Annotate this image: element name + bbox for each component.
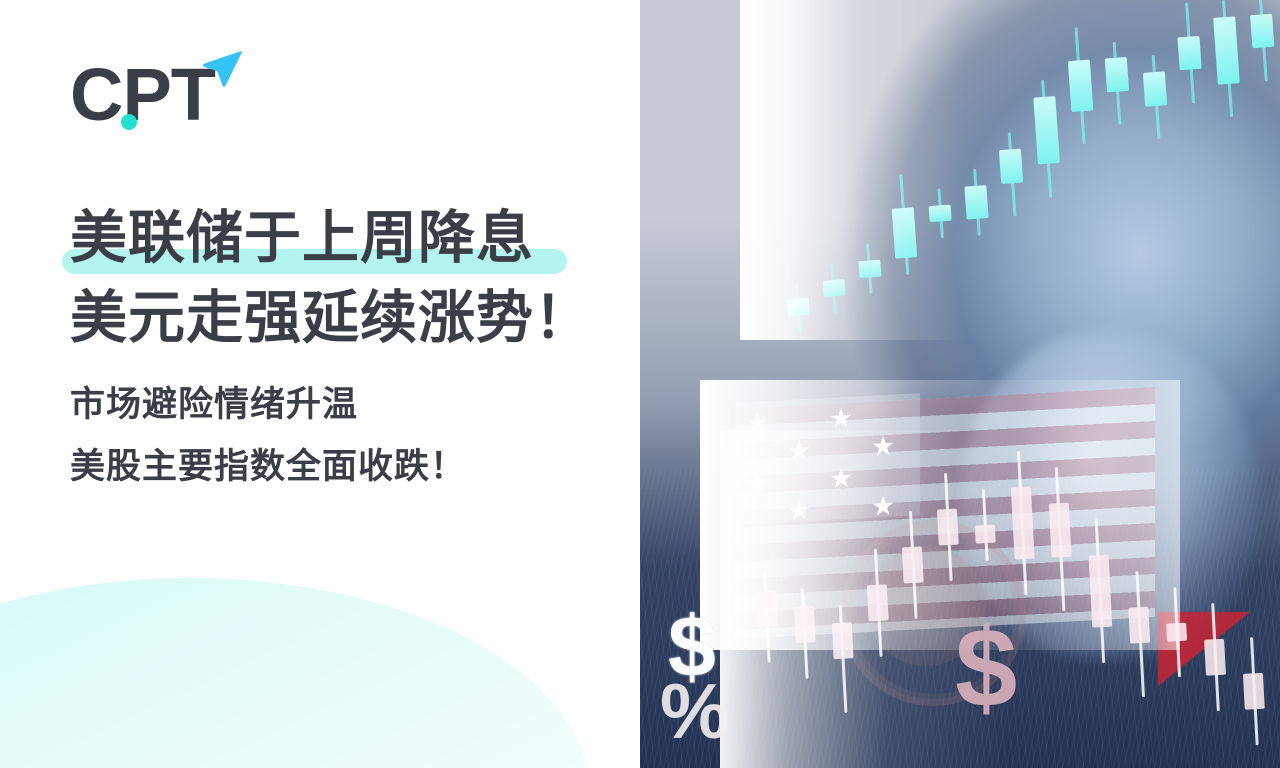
candlestick (1202, 603, 1228, 712)
candlestick-body (1204, 639, 1226, 676)
us-flag-stars: ★★★★★★★★ (735, 393, 925, 528)
candlestick (1142, 55, 1170, 140)
candlestick-wick (795, 282, 802, 332)
candlestick-body (1048, 503, 1071, 558)
candlestick-body (786, 298, 809, 316)
red-triangle-accent (1158, 612, 1250, 686)
candlestick-body (794, 606, 816, 643)
candlestick-body (858, 260, 881, 278)
candlestick-wick (839, 605, 848, 713)
candlestick-wick (1113, 41, 1122, 125)
candlestick-body (1068, 60, 1093, 112)
candlestick (1126, 571, 1153, 698)
candlestick-wick (1008, 133, 1017, 217)
us-flag-canton (735, 393, 920, 525)
candlestick-wick (944, 473, 953, 581)
candlestick (1212, 0, 1242, 118)
candlestick (1086, 519, 1114, 664)
candlestick (793, 588, 818, 679)
headline-block: 美联储于上周降息 美元走强延续涨势！ 市场避险情绪升温 美股主要指数全面收跌！ (70, 196, 690, 498)
candlestick (785, 281, 810, 333)
logo-wordmark: CPT (70, 52, 215, 138)
candlestick-wick (873, 549, 882, 657)
banknote-engraving-texture-secondary (640, 558, 1280, 768)
candlestick (973, 489, 997, 562)
candlestick-body (832, 622, 854, 659)
falling-candlestick-chart (740, 427, 1277, 768)
flag-star-icon: ★ (871, 493, 895, 521)
candlestick-wick (1075, 27, 1086, 144)
candlestick-body (1250, 13, 1274, 48)
candlestick (900, 510, 926, 619)
candlestick-body (1010, 487, 1034, 560)
candlestick (1241, 637, 1267, 746)
candlestick-body (1105, 57, 1129, 92)
candlestick-body (1213, 16, 1240, 84)
candlestick-wick (801, 589, 809, 679)
candlestick (1164, 587, 1189, 678)
candlestick-body (755, 590, 777, 627)
candlestick-wick (1250, 637, 1259, 745)
candlestick-body (1166, 623, 1187, 642)
large-dollar-symbol: $ (955, 612, 1015, 724)
headline-line-2-text: 美元走强延续涨势！ (70, 286, 592, 350)
franklin-portrait-shadow (860, 390, 980, 580)
candlestick-body (1033, 96, 1060, 164)
flag-star-icon: ★ (745, 469, 769, 497)
candlestick-wick (1135, 571, 1145, 697)
candlestick (1175, 2, 1204, 104)
us-flag-stripes (735, 387, 1155, 639)
franklin-portrait (960, 330, 1260, 660)
candlestick-body (892, 207, 917, 259)
cpt-logo[interactable]: CPT (70, 52, 240, 138)
candlestick-wick (866, 244, 873, 294)
candlestick (935, 473, 961, 582)
falling-chart-fade-mask (720, 430, 1280, 768)
candlestick-wick (982, 489, 989, 561)
candlestick-body (1143, 71, 1167, 106)
rising-candlestick-chart (759, 0, 1280, 348)
headline-line-1-text: 美联储于上周降息 (70, 206, 534, 270)
mint-decorative-blob (0, 578, 590, 768)
subhead-line-2: 美股主要指数全面收跌！ (70, 436, 690, 498)
headline-line-1: 美联储于上周降息 (70, 196, 690, 280)
paper-plane-icon (198, 50, 242, 88)
banknote-engraving-texture (640, 468, 1280, 768)
federal-reserve-seal (840, 520, 1026, 706)
headline-line-2: 美元走强延续涨势！ (70, 276, 690, 360)
candlestick-wick (1041, 80, 1052, 197)
flag-star-icon: ★ (787, 497, 811, 525)
federal-reserve-seal-inner (866, 546, 986, 666)
candlestick-body (999, 149, 1023, 184)
candlestick-wick (1211, 603, 1220, 711)
candlestick (1009, 451, 1037, 596)
dollar-watermark: $ (668, 604, 716, 690)
candlestick-wick (937, 188, 944, 238)
candlestick-wick (1017, 451, 1028, 595)
flag-star-icon: ★ (871, 433, 895, 461)
flag-star-icon: ★ (829, 405, 853, 433)
candlestick (857, 243, 882, 295)
rising-chart-fade-mask (740, 0, 1280, 340)
candlestick-wick (763, 573, 771, 663)
candlestick (889, 173, 918, 275)
candlestick-body (867, 584, 889, 621)
candlestick (865, 548, 891, 657)
candlestick-wick (1173, 587, 1181, 677)
candlestick-wick (1095, 519, 1106, 663)
candlestick-body (965, 185, 989, 220)
candlestick (998, 132, 1026, 217)
candlestick-wick (909, 511, 918, 619)
candlestick (1249, 0, 1277, 82)
percent-watermark: % (660, 672, 729, 750)
candlestick-wick (973, 169, 981, 236)
candlestick-wick (1259, 0, 1268, 81)
candlestick-body (1178, 35, 1202, 70)
flag-star-icon: ★ (745, 409, 769, 437)
candlestick-wick (1185, 3, 1195, 104)
candlestick-wick (1055, 467, 1066, 611)
candlestick (755, 572, 780, 663)
candlestick (1103, 41, 1131, 126)
candlestick-body (975, 525, 996, 544)
candlestick (928, 187, 953, 239)
flag-star-icon: ★ (787, 437, 811, 465)
candlestick-body (822, 279, 845, 297)
candlestick-wick (1151, 55, 1160, 139)
candlestick-body (937, 509, 959, 546)
candlestick-body (902, 546, 924, 583)
subhead-line-1: 市场避险情绪升温 (70, 374, 690, 436)
candlestick-body (1243, 673, 1265, 710)
flag-fade-mask (700, 380, 1180, 650)
candlestick (821, 262, 846, 314)
candlestick-body (1128, 607, 1150, 644)
promo-banner: ★★★★★★★★ $ % $ CPT 美联储于上周降息 美元走强延续涨势！ 市场… (0, 0, 1280, 768)
flag-star-icon: ★ (829, 465, 853, 493)
banknote-photo-block (640, 0, 1280, 768)
candlestick-wick (899, 174, 909, 275)
candlestick (1047, 467, 1075, 612)
candlestick-body (929, 204, 952, 222)
candlestick (1032, 79, 1062, 198)
candlestick (1065, 26, 1095, 145)
candlestick-wick (831, 263, 838, 313)
candlestick (831, 604, 857, 713)
candlestick (963, 168, 990, 236)
dot-icon (121, 114, 137, 130)
candlestick-body (1088, 555, 1112, 628)
candlestick-wick (1222, 0, 1233, 117)
